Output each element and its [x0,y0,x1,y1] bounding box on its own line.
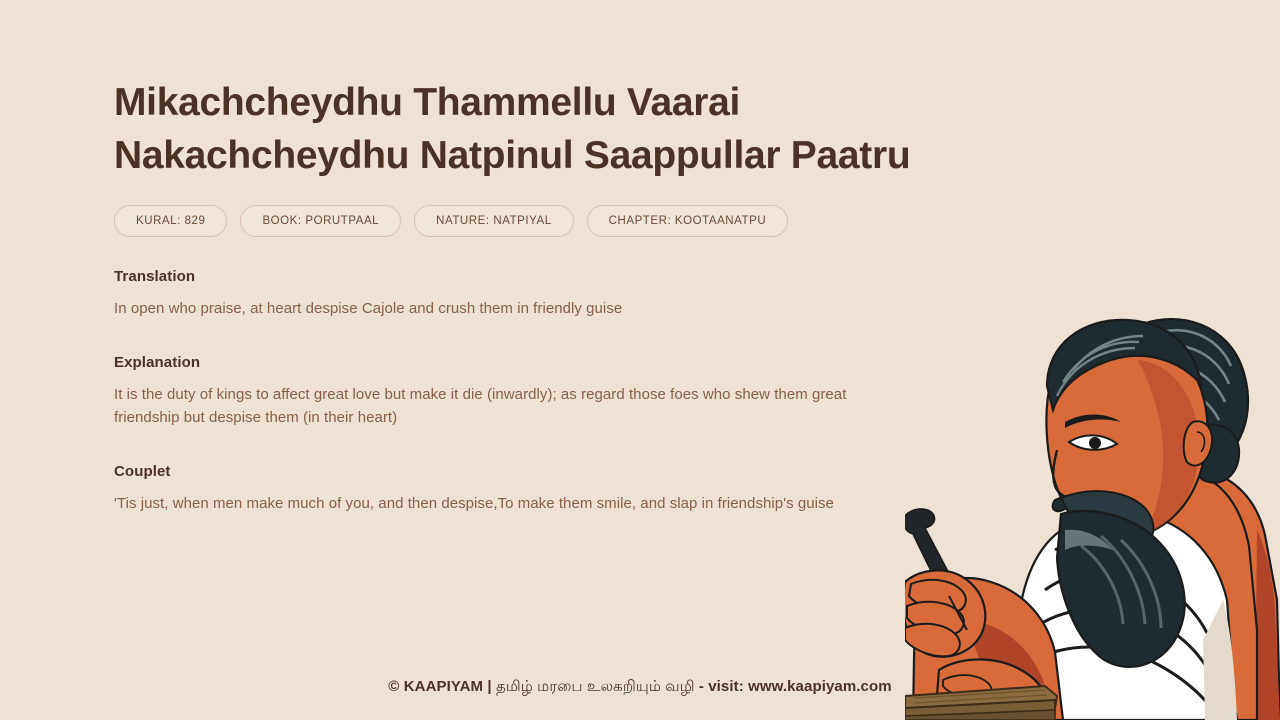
section-heading-explanation: Explanation [114,354,874,371]
metadata-badges: KURAL: 829 BOOK: PORUTPAAL NATURE: NATPI… [114,205,788,237]
section-body-couplet: 'Tis just, when men make much of you, an… [114,493,839,516]
section-body-explanation: It is the duty of kings to affect great … [114,384,859,429]
thiruvalluvar-writing-illustration [905,300,1280,720]
badge-book[interactable]: BOOK: PORUTPAAL [240,205,401,237]
footer-copyright: © KAAPIYAM | [388,678,496,695]
badge-kural[interactable]: KURAL: 829 [114,205,227,237]
section-heading-translation: Translation [114,268,874,285]
footer: © KAAPIYAM | தமிழ் மரபை உலகறியும் வழி - … [0,678,1280,697]
section-body-translation: In open who praise, at heart despise Caj… [114,298,814,321]
section-heading-couplet: Couplet [114,463,874,480]
kural-card: Mikachcheydhu Thammellu Vaarai Nakachche… [0,0,1280,720]
section-translation: Translation In open who praise, at heart… [114,268,874,321]
footer-tamil-tagline: தமிழ் மரபை உலகறியும் வழி [496,678,695,695]
footer-visit-url[interactable]: - visit: www.kaapiyam.com [695,678,892,695]
section-couplet: Couplet 'Tis just, when men make much of… [114,463,874,516]
badge-chapter[interactable]: CHAPTER: KOOTAANATPU [587,205,789,237]
page-title: Mikachcheydhu Thammellu Vaarai Nakachche… [114,76,994,182]
badge-nature[interactable]: NATURE: NATPIYAL [414,205,574,237]
content-column: Mikachcheydhu Thammellu Vaarai Nakachche… [114,0,914,720]
section-explanation: Explanation It is the duty of kings to a… [114,354,874,429]
